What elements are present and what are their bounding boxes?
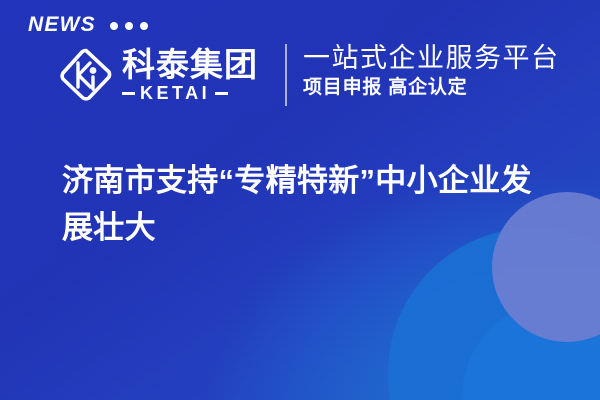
brand-name-en-row: KETAI (122, 84, 258, 102)
vertical-divider (285, 44, 287, 106)
brand-name-cn: 科泰集团 (122, 46, 258, 83)
tagline: 一站式企业服务平台 项目申报 高企认定 (303, 43, 560, 99)
eyebrow-dots-icon (110, 22, 148, 30)
brand-lockup: 科泰集团 KETAI (58, 46, 258, 104)
news-banner: NEWS 科泰集团 (0, 0, 600, 400)
tagline-main: 一站式企业服务平台 (303, 43, 560, 73)
brand-name-en: KETAI (140, 84, 210, 102)
brand-wordmark: 科泰集团 KETAI (122, 48, 258, 102)
eyebrow: NEWS (28, 14, 148, 35)
wordmark-rule-right (215, 92, 228, 95)
decorative-circle-bright (388, 228, 600, 400)
wordmark-rule-left (122, 92, 135, 95)
page-title: 济南市支持“专精特新”中小企业发展壮大 (62, 157, 562, 251)
tagline-sub: 项目申报 高企认定 (303, 78, 560, 99)
ketai-logo-icon (58, 46, 114, 104)
decorative-circle-bright-inner (462, 300, 600, 400)
eyebrow-label: NEWS (28, 14, 96, 35)
